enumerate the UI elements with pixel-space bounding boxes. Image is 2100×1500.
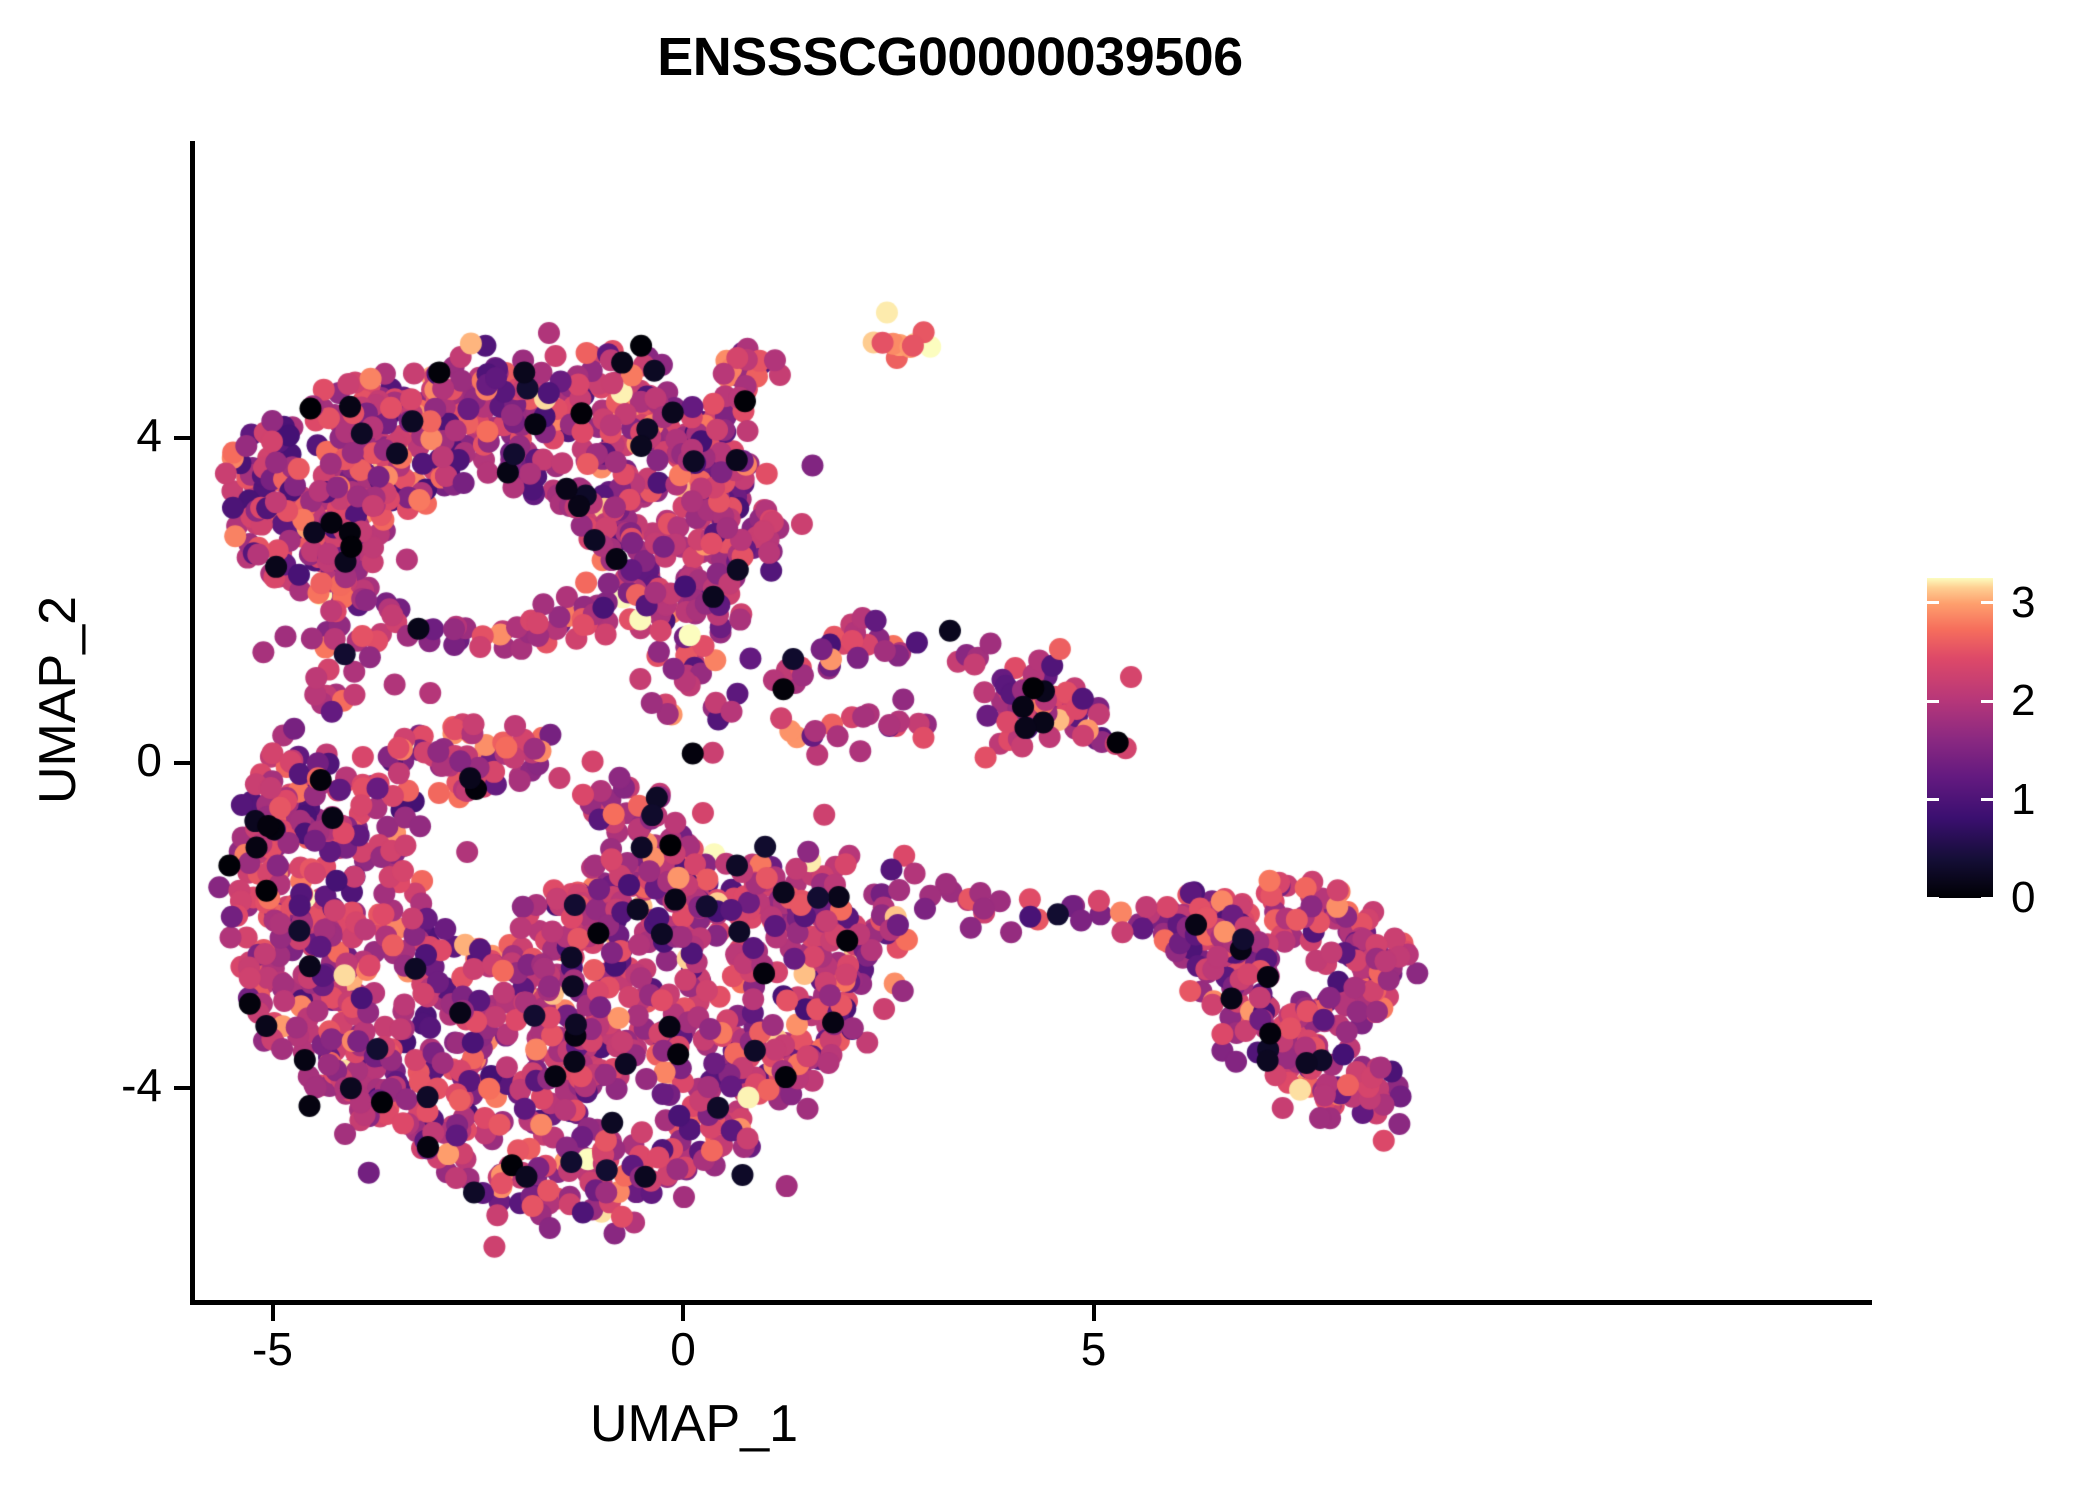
y-tick-mark bbox=[174, 1086, 190, 1090]
y-tick-label: -4 bbox=[42, 1058, 162, 1112]
x-tick-label: -5 bbox=[213, 1322, 333, 1376]
colorbar-tick-label: 0 bbox=[2011, 876, 2035, 920]
colorbar-tick-mark bbox=[1981, 798, 1993, 801]
x-tick-mark bbox=[271, 1305, 275, 1321]
colorbar-gradient bbox=[1927, 578, 1993, 898]
y-tick-mark bbox=[174, 436, 190, 440]
colorbar-tick-label: 1 bbox=[2011, 778, 2035, 822]
colorbar-tick-label: 2 bbox=[2011, 679, 2035, 723]
x-axis-title: UMAP_1 bbox=[194, 1394, 1194, 1454]
x-tick-label: 5 bbox=[1034, 1322, 1154, 1376]
page-title: ENSSSCG00000039506 bbox=[0, 26, 1900, 88]
chart-page: ENSSSCG00000039506 -505 -404 UMAP_1 UMAP… bbox=[0, 0, 2100, 1500]
x-axis-line bbox=[190, 1300, 1872, 1305]
y-axis-line bbox=[190, 141, 195, 1305]
colorbar-tick-mark bbox=[1981, 601, 1993, 604]
x-tick-label: 0 bbox=[623, 1322, 743, 1376]
colorbar-tick-mark bbox=[1927, 897, 1939, 900]
colorbar-tick-mark bbox=[1981, 897, 1993, 900]
colorbar-tick-mark bbox=[1981, 700, 1993, 703]
x-tick-mark bbox=[681, 1305, 685, 1321]
colorbar-tick-mark bbox=[1927, 601, 1939, 604]
colorbar-legend: 0123 bbox=[1927, 578, 1993, 898]
colorbar-tick-mark bbox=[1927, 700, 1939, 703]
colorbar-tick-label: 3 bbox=[2011, 581, 2035, 625]
y-axis-title: UMAP_2 bbox=[28, 400, 88, 1000]
colorbar-tick-mark bbox=[1927, 798, 1939, 801]
scatter-plot-canvas bbox=[194, 141, 1872, 1302]
plot-panel bbox=[194, 141, 1872, 1302]
x-tick-mark bbox=[1092, 1305, 1096, 1321]
y-tick-mark bbox=[174, 761, 190, 765]
